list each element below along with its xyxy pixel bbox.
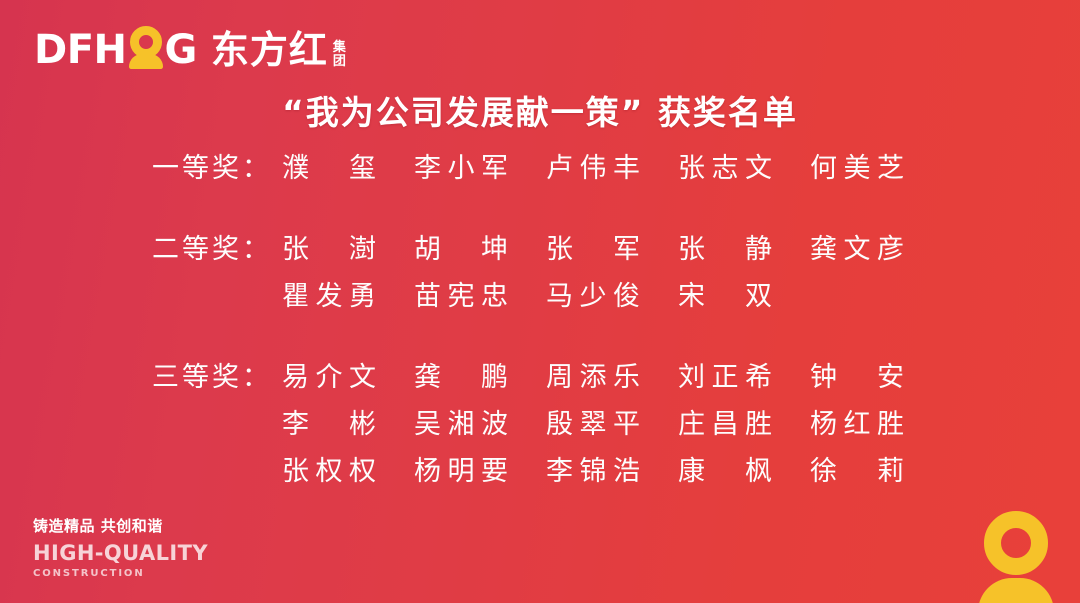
award-name-group: 瞿发勇苗宪忠马少俊宋双 <box>282 274 772 313</box>
award-name-char: 明 <box>448 449 475 488</box>
award-name-char: 忠 <box>481 274 508 313</box>
person-ring-icon-corner <box>978 511 1054 603</box>
award-name-char: 志 <box>712 146 739 185</box>
award-winner-name: 濮玺 <box>282 146 376 185</box>
award-name-char: 李 <box>546 449 573 488</box>
award-winner-name: 龚文彦 <box>810 227 904 266</box>
award-winner-name: 钟安 <box>810 355 904 394</box>
award-name-char: 苗 <box>414 274 441 313</box>
award-name-char: 红 <box>844 402 871 441</box>
award-winner-name: 吴湘波 <box>414 402 508 441</box>
award-name-char: 张 <box>282 449 309 488</box>
award-rank-label: 一等奖： <box>152 146 282 185</box>
person-ring-body <box>129 54 163 69</box>
award-name-char: 周 <box>546 355 573 394</box>
award-name-char: 马 <box>546 274 573 313</box>
corner-mark-body <box>978 578 1054 603</box>
award-name-char: 龚 <box>414 355 441 394</box>
award-name-char: 张 <box>678 227 705 266</box>
brand-latin-wordmark: DFH G <box>34 26 197 70</box>
award-name-char: 坤 <box>481 227 508 266</box>
award-name-char: 卢 <box>546 146 573 185</box>
page-title: “我为公司发展献一策” 获奖名单 <box>0 86 1080 134</box>
award-line: 二等奖：瞿发勇苗宪忠马少俊宋双 <box>152 274 1080 321</box>
award-name-char: 宪 <box>448 274 475 313</box>
award-name-char: 鹏 <box>481 355 508 394</box>
award-name-char: 小 <box>448 146 475 185</box>
award-winner-name: 张军 <box>546 227 640 266</box>
award-name-char: 胜 <box>745 402 772 441</box>
award-winner-name: 李小军 <box>414 146 508 185</box>
award-name-char: 军 <box>481 146 508 185</box>
award-name-char: 锦 <box>580 449 607 488</box>
award-name-char: 杨 <box>414 449 441 488</box>
award-winner-name: 卢伟丰 <box>546 146 640 185</box>
award-name-char: 康 <box>678 449 705 488</box>
award-name-char: 正 <box>712 355 739 394</box>
award-name-char: 要 <box>481 449 508 488</box>
award-name-char: 波 <box>481 402 508 441</box>
footer-slogan: 铸造精品 共创和谐 HIGH-QUALITY CONSTRUCTION <box>33 515 208 579</box>
award-name-char: 易 <box>282 355 309 394</box>
slogan-english-primary: HIGH-QUALITY <box>33 542 208 565</box>
award-name-char: 莉 <box>877 449 904 488</box>
corner-mark-head <box>984 511 1048 575</box>
award-name-char: 伟 <box>580 146 607 185</box>
award-winner-name: 杨红胜 <box>810 402 904 441</box>
award-name-char: 张 <box>678 146 705 185</box>
award-line: 二等奖：张澍胡坤张军张静龚文彦 <box>152 227 1080 274</box>
award-winner-name: 殷翠平 <box>546 402 640 441</box>
brand-latin-part1: DFH <box>34 30 127 70</box>
award-winner-name: 张权权 <box>282 449 376 488</box>
award-name-char: 翠 <box>580 402 607 441</box>
award-winner-name: 瞿发勇 <box>282 274 376 313</box>
brand-latin-part2: G <box>165 30 197 70</box>
award-name-char: 胡 <box>414 227 441 266</box>
award-name-char: 美 <box>844 146 871 185</box>
award-name-char: 瞿 <box>282 274 309 313</box>
award-slide: DFH G 东方红 集 团 “我为公司发展献一策” 获奖名单 一等奖：濮玺李小军… <box>0 0 1080 603</box>
award-name-char: 宋 <box>678 274 705 313</box>
award-name-char: 刘 <box>678 355 705 394</box>
award-name-char: 权 <box>349 449 376 488</box>
award-winner-name: 龚鹏 <box>414 355 508 394</box>
award-name-char: 双 <box>745 274 772 313</box>
award-name-char: 勇 <box>349 274 376 313</box>
award-name-char: 浩 <box>613 449 640 488</box>
award-name-char: 俊 <box>613 274 640 313</box>
award-winner-name: 张静 <box>678 227 772 266</box>
award-name-group: 张权权杨明要李锦浩康枫徐莉 <box>282 449 904 488</box>
award-name-char: 军 <box>613 227 640 266</box>
award-list: 一等奖：濮玺李小军卢伟丰张志文何美芝二等奖：张澍胡坤张军张静龚文彦二等奖：瞿发勇… <box>0 146 1080 496</box>
award-winner-name: 马少俊 <box>546 274 640 313</box>
award-name-group: 濮玺李小军卢伟丰张志文何美芝 <box>282 146 904 185</box>
award-name-char: 发 <box>316 274 343 313</box>
award-line: 三等奖：易介文龚鹏周添乐刘正希钟安 <box>152 355 1080 402</box>
award-winner-name: 杨明要 <box>414 449 508 488</box>
award-name-char: 少 <box>580 274 607 313</box>
award-rank-label: 二等奖： <box>152 227 282 266</box>
award-winner-name: 宋双 <box>678 274 772 313</box>
award-name-char: 玺 <box>349 146 376 185</box>
award-winner-name: 何美芝 <box>810 146 904 185</box>
award-name-char: 彦 <box>877 227 904 266</box>
award-name-char: 安 <box>877 355 904 394</box>
award-name-char: 文 <box>844 227 871 266</box>
award-name-char: 文 <box>349 355 376 394</box>
award-name-char: 何 <box>810 146 837 185</box>
award-winner-name: 徐莉 <box>810 449 904 488</box>
award-winner-name: 胡坤 <box>414 227 508 266</box>
award-name-char: 李 <box>282 402 309 441</box>
award-line: 三等奖：张权权杨明要李锦浩康枫徐莉 <box>152 449 1080 496</box>
award-name-char: 杨 <box>810 402 837 441</box>
award-name-char: 湘 <box>448 402 475 441</box>
brand-logo: DFH G 东方红 集 团 <box>34 20 346 70</box>
award-name-char: 静 <box>745 227 772 266</box>
award-name-char: 丰 <box>613 146 640 185</box>
award-name-group: 张澍胡坤张军张静龚文彦 <box>282 227 904 266</box>
award-winner-name: 李彬 <box>282 402 376 441</box>
award-winner-name: 张志文 <box>678 146 772 185</box>
award-winner-name: 易介文 <box>282 355 376 394</box>
brand-group-suffix: 集 团 <box>333 41 346 69</box>
award-name-char: 澍 <box>349 227 376 266</box>
award-winner-name: 周添乐 <box>546 355 640 394</box>
award-name-char: 乐 <box>613 355 640 394</box>
award-winner-name: 庄昌胜 <box>678 402 772 441</box>
brand-group-char-1: 集 <box>333 41 346 55</box>
award-name-char: 芝 <box>877 146 904 185</box>
award-name-char: 张 <box>546 227 573 266</box>
award-winner-name: 康枫 <box>678 449 772 488</box>
award-name-char: 平 <box>613 402 640 441</box>
award-name-char: 胜 <box>877 402 904 441</box>
award-line: 三等奖：李彬吴湘波殷翠平庄昌胜杨红胜 <box>152 402 1080 449</box>
award-rank-label: 三等奖： <box>152 355 282 394</box>
award-name-char: 枫 <box>745 449 772 488</box>
award-name-char: 昌 <box>712 402 739 441</box>
award-name-char: 钟 <box>810 355 837 394</box>
award-name-char: 权 <box>316 449 343 488</box>
award-name-char: 介 <box>316 355 343 394</box>
award-name-char: 徐 <box>810 449 837 488</box>
award-name-char: 添 <box>580 355 607 394</box>
slogan-english-secondary: CONSTRUCTION <box>33 568 208 579</box>
award-winner-name: 张澍 <box>282 227 376 266</box>
person-ring-icon <box>128 26 164 70</box>
award-name-char: 龚 <box>810 227 837 266</box>
award-name-char: 吴 <box>414 402 441 441</box>
award-name-char: 张 <box>282 227 309 266</box>
slogan-chinese: 铸造精品 共创和谐 <box>33 515 208 536</box>
award-name-group: 李彬吴湘波殷翠平庄昌胜杨红胜 <box>282 402 904 441</box>
award-name-char: 彬 <box>349 402 376 441</box>
award-group: 一等奖：濮玺李小军卢伟丰张志文何美芝 <box>152 146 1080 193</box>
award-winner-name: 李锦浩 <box>546 449 640 488</box>
award-group: 二等奖：张澍胡坤张军张静龚文彦二等奖：瞿发勇苗宪忠马少俊宋双 <box>152 227 1080 321</box>
award-winner-name: 刘正希 <box>678 355 772 394</box>
award-winner-name: 苗宪忠 <box>414 274 508 313</box>
award-group: 三等奖：易介文龚鹏周添乐刘正希钟安三等奖：李彬吴湘波殷翠平庄昌胜杨红胜三等奖：张… <box>152 355 1080 496</box>
award-name-char: 文 <box>745 146 772 185</box>
award-name-group: 易介文龚鹏周添乐刘正希钟安 <box>282 355 904 394</box>
award-line: 一等奖：濮玺李小军卢伟丰张志文何美芝 <box>152 146 1080 193</box>
brand-chinese-name: 东方红 <box>211 30 328 70</box>
award-name-char: 庄 <box>678 402 705 441</box>
brand-group-char-2: 团 <box>333 55 346 69</box>
award-name-char: 濮 <box>282 146 309 185</box>
award-name-char: 希 <box>745 355 772 394</box>
award-name-char: 殷 <box>546 402 573 441</box>
award-name-char: 李 <box>414 146 441 185</box>
